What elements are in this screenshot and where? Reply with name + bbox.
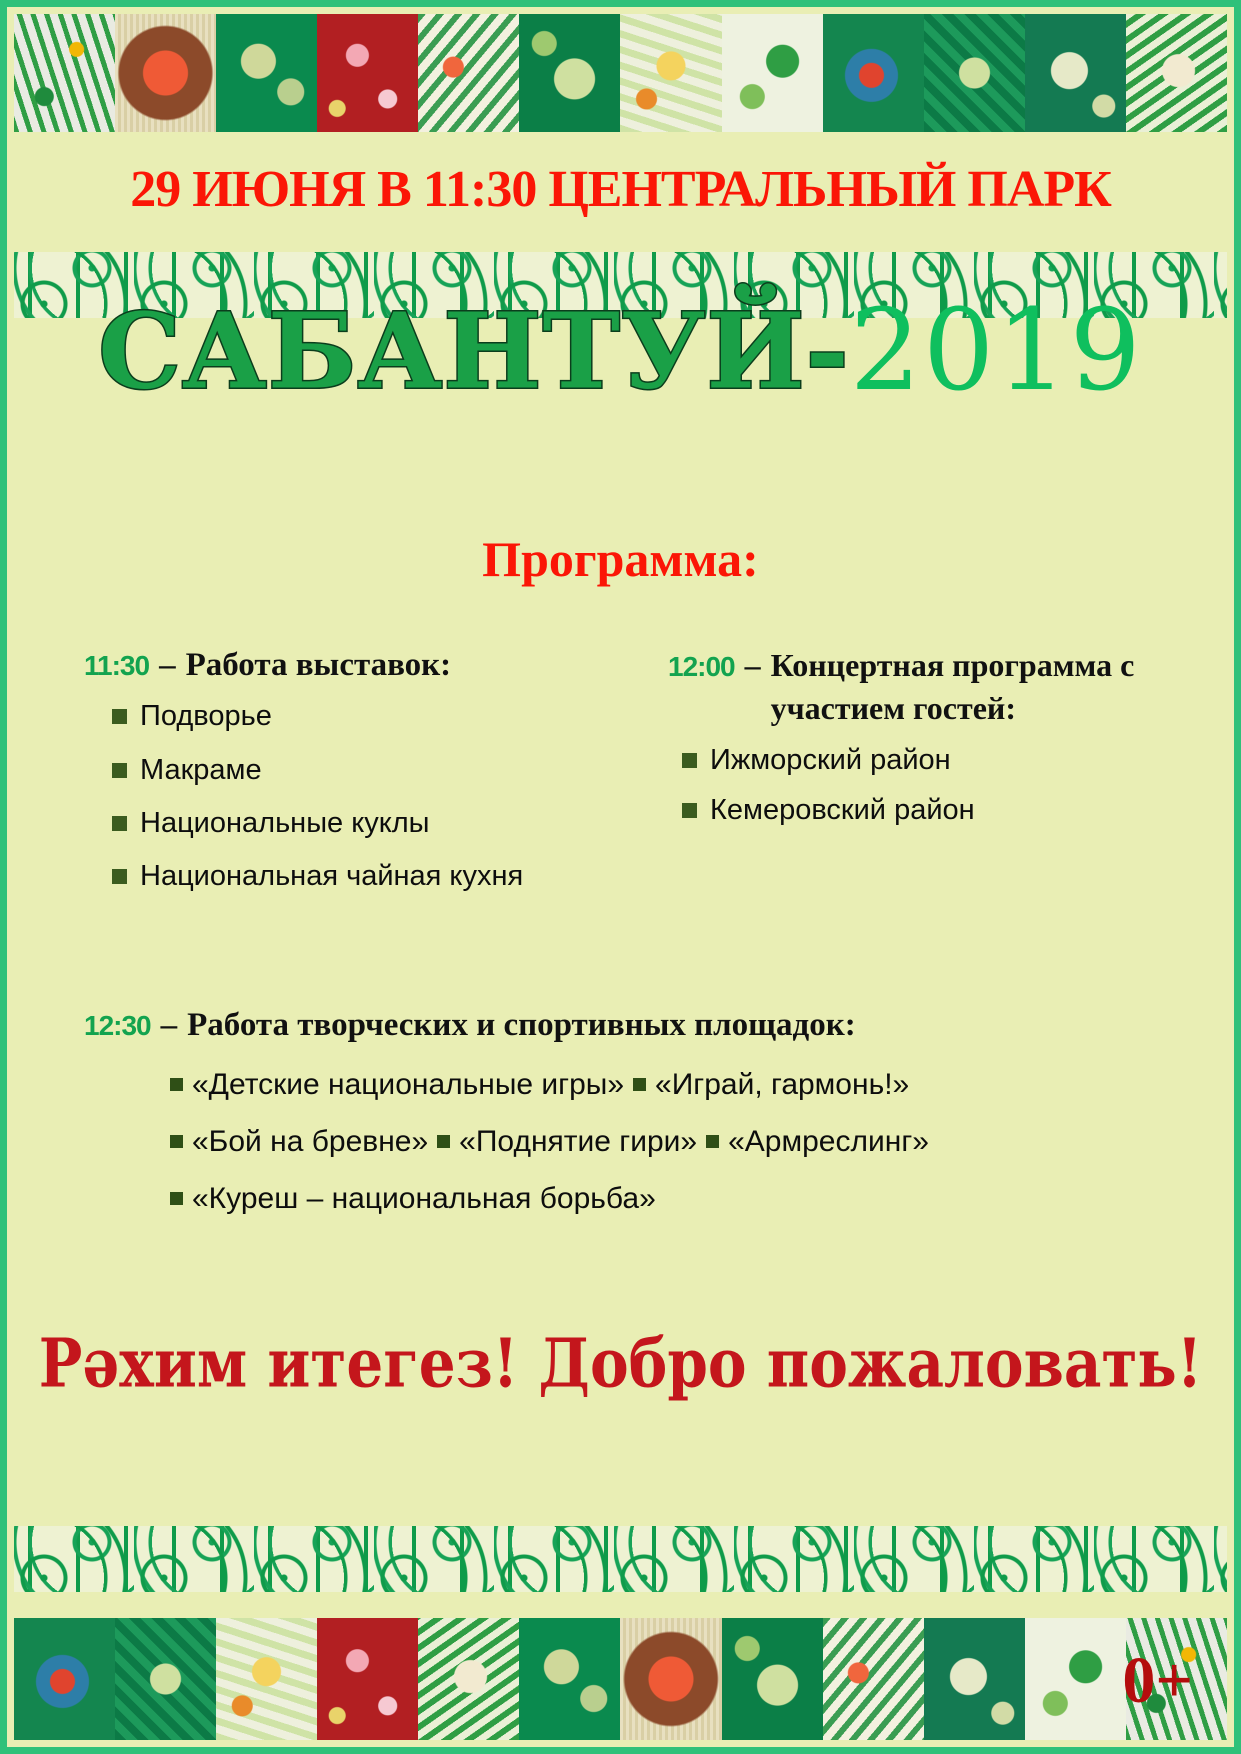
program-block-1130: 11:30 – Работа выставок: Подворье Макрам… — [84, 644, 644, 914]
patch-tile — [317, 14, 418, 132]
age-rating-badge: 0+ — [1122, 1648, 1193, 1714]
venue-name: «Куреш – национальная борьба» — [192, 1182, 656, 1215]
square-bullet-icon — [706, 1135, 719, 1148]
program-block-1200: 12:00 – Концертная программа с участием … — [668, 644, 1138, 843]
patch-tile — [14, 14, 115, 132]
patch-tile — [924, 14, 1025, 132]
patch-tile — [722, 1618, 823, 1740]
event-headline: 29 ИЮНЯ В 11:30 ЦЕНТРАЛЬНЫЙ ПАРК — [14, 160, 1227, 219]
patch-tile — [722, 14, 823, 132]
venue-name: «Бой на бревне» — [192, 1125, 428, 1158]
square-bullet-icon — [170, 1192, 183, 1205]
top-ornament-band — [14, 14, 1227, 132]
block-heading-text: Концертная программа с участием гостей: — [771, 644, 1138, 730]
program-columns: 11:30 – Работа выставок: Подворье Макрам… — [84, 644, 1167, 914]
patch-tile — [620, 1618, 721, 1740]
patch-tile — [823, 1618, 924, 1740]
block-heading: 12:30 – Работа творческих и спортивных п… — [84, 1004, 1167, 1046]
patch-tile — [418, 1618, 519, 1740]
block-item-list: Ижморский район Кемеровский район — [668, 744, 1138, 827]
block-heading-text: Работа выставок: — [186, 644, 644, 686]
venue-name: «Детские национальные игры» — [192, 1068, 624, 1101]
poster-title: САБАНТУЙ-2019 — [14, 286, 1227, 416]
patch-tile — [620, 14, 721, 132]
patch-tile — [1126, 14, 1227, 132]
block-time: 12:00 — [668, 648, 735, 686]
venue-name: «Играй, гармонь!» — [655, 1068, 909, 1101]
patch-tile — [924, 1618, 1025, 1740]
patch-tile — [519, 14, 620, 132]
venue-name: «Армреслинг» — [728, 1125, 929, 1158]
list-item: Кемеровский район — [668, 794, 1138, 827]
venue-list: «Детские национальные игры»«Играй, гармо… — [84, 1068, 1167, 1216]
list-item: Национальная чайная кухня — [98, 860, 644, 893]
list-item: Макраме — [98, 754, 644, 787]
patch-tile — [1025, 14, 1126, 132]
block-dash: – — [161, 1004, 178, 1046]
block-time: 11:30 — [84, 648, 149, 684]
block-heading: 11:30 – Работа выставок: — [84, 644, 644, 686]
vine-border-bottom — [14, 1526, 1227, 1592]
patch-tile — [216, 14, 317, 132]
block-item-list: Подворье Макраме Национальные куклы Наци… — [98, 700, 644, 893]
square-bullet-icon — [437, 1135, 450, 1148]
program-block-1230: 12:30 – Работа творческих и спортивных п… — [84, 1004, 1167, 1239]
title-year-text: 2019 — [850, 286, 1143, 416]
patch-tile — [1025, 1618, 1126, 1740]
patch-tile — [216, 1618, 317, 1740]
block-time: 12:30 — [84, 1008, 151, 1044]
patch-tile — [418, 14, 519, 132]
block-dash: – — [159, 644, 176, 686]
venue-line: «Куреш – национальная борьба» — [170, 1182, 1167, 1216]
patch-tile — [317, 1618, 418, 1740]
venue-line: «Бой на бревне»«Поднятие гири»«Армреслин… — [170, 1125, 1167, 1159]
patch-tile — [115, 1618, 216, 1740]
square-bullet-icon — [633, 1078, 646, 1091]
patch-tile — [519, 1618, 620, 1740]
block-heading: 12:00 – Концертная программа с участием … — [668, 644, 1138, 730]
square-bullet-icon — [170, 1078, 183, 1091]
block-dash: – — [745, 644, 761, 687]
list-item: Подворье — [98, 700, 644, 733]
bottom-ornament-band — [14, 1618, 1227, 1740]
welcome-greeting: Рәхим итегез! Добро пожаловать! — [14, 1324, 1227, 1403]
venue-line: «Детские национальные игры»«Играй, гармо… — [170, 1068, 1167, 1102]
patch-tile — [115, 14, 216, 132]
list-item: Национальные куклы — [98, 807, 644, 840]
patch-tile — [14, 1618, 115, 1740]
patch-tile — [823, 14, 924, 132]
venue-name: «Поднятие гири» — [459, 1125, 697, 1158]
square-bullet-icon — [170, 1135, 183, 1148]
poster: 29 ИЮНЯ В 11:30 ЦЕНТРАЛЬНЫЙ ПАРК САБАНТУ… — [0, 0, 1241, 1754]
program-heading: Программа: — [14, 530, 1227, 588]
block-heading-text: Работа творческих и спортивных площадок: — [187, 1004, 1167, 1046]
poster-inner: 29 ИЮНЯ В 11:30 ЦЕНТРАЛЬНЫЙ ПАРК САБАНТУ… — [14, 14, 1227, 1740]
title-main-text: САБАНТУЙ- — [98, 290, 850, 413]
list-item: Ижморский район — [668, 744, 1138, 777]
